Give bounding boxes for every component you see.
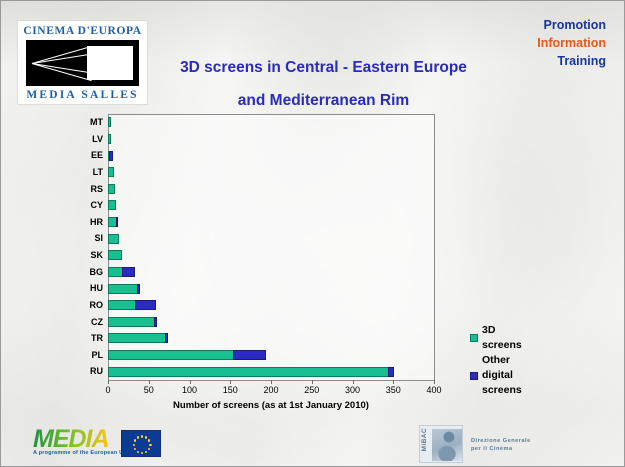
stacked-bar [108,250,122,260]
bar-segment-other-digital-screens [135,300,156,310]
x-axis-tick-label: 300 [345,385,360,395]
page-title: 3D screens in Central - Eastern Europe a… [151,51,496,117]
eu-star-icon [149,444,151,446]
stacked-bar [108,317,157,327]
y-axis-tick-label: TR [47,330,103,347]
stacked-bar [108,267,135,277]
stacked-bar [108,151,113,161]
bar-segment-3d-screens [108,134,111,144]
y-axis-tick-label: RO [47,297,103,314]
bar-segment-other-digital-screens [109,151,113,161]
chart-bar-row: EE [108,147,434,164]
bar-segment-3d-screens [108,317,155,327]
y-axis-tick-label: RU [47,363,103,380]
stacked-bar [108,167,114,177]
chart-bar-row: HU [108,280,434,297]
chart-bar-row: RS [108,181,434,198]
x-axis-tick-label: 400 [426,385,441,395]
bar-segment-3d-screens [108,333,166,343]
bar-segment-other-digital-screens [154,317,156,327]
chart-bar-row: CY [108,197,434,214]
x-axis-tick-label: 100 [182,385,197,395]
stacked-bar [108,350,266,360]
media-subtitle: A programme of the European Union [33,450,193,456]
chart-bar-row: HR [108,214,434,231]
media-salles-logo: CINEMA D'EUROPA MEDIA SALLES [17,20,148,105]
eu-star-icon [141,452,143,454]
bar-segment-3d-screens [108,184,115,194]
media-wordmark: MEDIA [33,426,193,452]
y-axis-tick-label: CZ [47,314,103,331]
y-axis-tick-label: CY [47,197,103,214]
y-axis-tick-label: PL [47,347,103,364]
chart-bar-row: SI [108,230,434,247]
bar-segment-other-digital-screens [122,267,135,277]
eu-star-icon [133,444,135,446]
plot-area: MTLVEELTRSCYHRSISKBGHUROCZTRPLRU05010015… [108,114,434,380]
legend-item-3d-screens: 3D screens [470,323,522,353]
y-axis-tick-label: SK [47,247,103,264]
y-axis-tick-label: RS [47,181,103,198]
bar-segment-other-digital-screens [137,284,139,294]
bar-segment-3d-screens [108,367,389,377]
mibac-line-1: Direzione Generale [471,438,531,446]
legend-label-3d-screens: 3D screens [482,323,522,353]
x-axis-tick [353,380,354,384]
eu-star-icon [141,435,143,437]
legend-item-other-digital-screens: Other digital screens [470,353,522,398]
x-axis-tick [434,380,435,384]
mibac-figure-icon [432,429,462,461]
stacked-bar [108,134,111,144]
title-line-2: and Mediterranean Rim [151,84,496,117]
logo-bottom-text: MEDIA SALLES [18,89,147,102]
bar-segment-3d-screens [108,234,119,244]
media-programme-logo: MEDIA A programme of the European Union [33,426,193,462]
y-axis-tick-label: MT [47,114,103,131]
chart-bar-row: LT [108,164,434,181]
eu-star-icon [137,451,139,453]
chart-bar-row: MT [108,114,434,131]
legend-swatch-other-digital-screens [470,372,478,380]
chart-bar-row: LV [108,131,434,148]
chart-bar-row: RO [108,297,434,314]
y-axis-tick-label: EE [47,147,103,164]
chart-bar-row: TR [108,330,434,347]
x-axis-tick [149,380,150,384]
y-axis-tick-label: HR [47,214,103,231]
bar-segment-other-digital-screens [388,367,394,377]
bar-segment-3d-screens [108,250,122,260]
bar-segment-3d-screens [108,284,138,294]
eu-star-icon [148,439,150,441]
eu-star-icon [134,439,136,441]
stacked-bar [108,217,118,227]
y-axis-tick-label: SI [47,230,103,247]
y-axis-tick-label: HU [47,280,103,297]
y-axis-tick-label: LV [47,131,103,148]
legend-swatch-3d-screens [470,334,478,342]
x-axis-tick [190,380,191,384]
title-line-1: 3D screens in Central - Eastern Europe [151,51,496,84]
x-axis-tick [108,380,109,384]
stacked-bar [108,200,116,210]
bar-segment-other-digital-screens [233,350,266,360]
keyword-training: Training [537,52,606,70]
logo-top-text: CINEMA D'EUROPA [18,25,147,38]
eu-star-icon [134,448,136,450]
mibac-logo: MiBAC Direzione Generale per il Cinema [419,425,559,465]
keyword-information: Information [537,34,606,52]
chart-bar-row: SK [108,247,434,264]
bar-segment-3d-screens [108,200,116,210]
chart-bar-row: RU [108,363,434,380]
x-axis-tick [271,380,272,384]
x-axis-title: Number of screens (as at 1st January 201… [108,400,434,411]
eu-star-icon [145,451,147,453]
bar-segment-other-digital-screens [116,217,118,227]
x-axis-tick [312,380,313,384]
bar-chart: MTLVEELTRSCYHRSISKBGHUROCZTRPLRU05010015… [46,114,436,411]
stacked-bar [108,117,111,127]
x-axis-tick-label: 250 [304,385,319,395]
mibac-vertical-text: MiBAC [421,428,428,451]
legend-label-other-digital-screens: Other digital screens [482,353,522,398]
chart-legend: 3D screens Other digital screens [470,323,522,398]
mibac-line-2: per il Cinema [471,446,531,454]
european-union-flag [121,430,161,457]
projector-beam-screen-icon [26,40,139,86]
chart-bar-row: PL [108,347,434,364]
chart-bar-row: CZ [108,314,434,331]
x-axis-tick [230,380,231,384]
presentation-slide: CINEMA D'EUROPA MEDIA SALLES 3D screens … [0,0,625,467]
x-axis-tick-label: 150 [223,385,238,395]
x-axis-tick-label: 350 [386,385,401,395]
stacked-bar [108,367,394,377]
stacked-bar [108,300,156,310]
y-axis-tick-label: LT [47,164,103,181]
bar-segment-3d-screens [108,350,234,360]
y-axis-tick-label: BG [47,264,103,281]
x-axis-tick-label: 0 [105,385,110,395]
stacked-bar [108,284,140,294]
eu-star-icon [137,436,139,438]
x-axis-tick-label: 200 [263,385,278,395]
x-axis-tick [393,380,394,384]
corner-keywords: Promotion Information Training [537,16,606,70]
stacked-bar [108,184,115,194]
eu-star-icon [145,436,147,438]
mibac-emblem: MiBAC [419,425,463,463]
x-axis-tick-label: 50 [144,385,154,395]
bar-segment-3d-screens [108,300,136,310]
keyword-promotion: Promotion [537,16,606,34]
bar-segment-3d-screens [108,267,123,277]
bar-segment-3d-screens [108,117,111,127]
mibac-department-text: Direzione Generale per il Cinema [471,438,531,453]
stacked-bar [108,234,119,244]
chart-bar-row: BG [108,264,434,281]
bar-segment-3d-screens [108,167,114,177]
bar-segment-other-digital-screens [165,333,168,343]
eu-star-icon [148,448,150,450]
stacked-bar [108,333,168,343]
